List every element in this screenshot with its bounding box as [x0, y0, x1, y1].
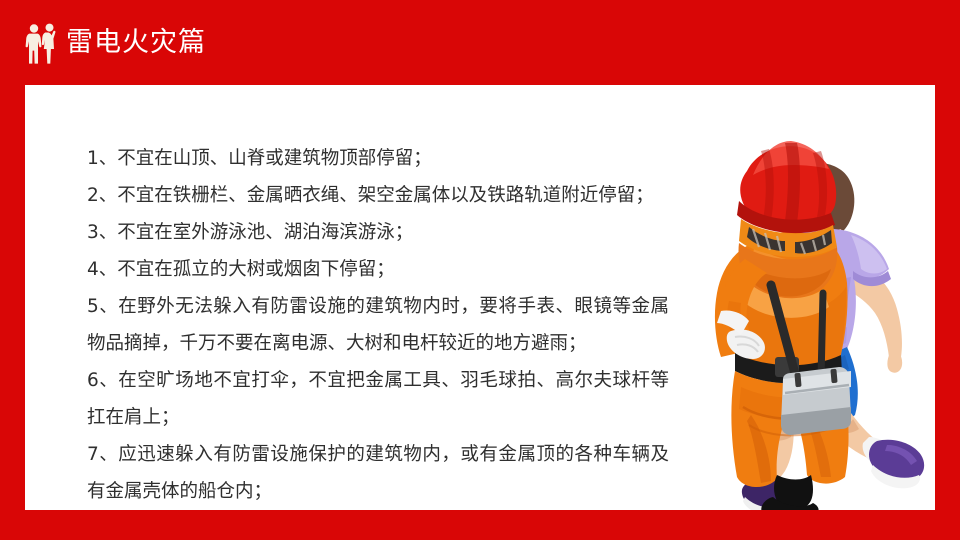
equipment-case [781, 367, 851, 435]
firefighter-rescuing-civilian-illustration [625, 125, 935, 510]
content-panel: 1、不宜在山顶、山脊或建筑物顶部停留； 2、不宜在铁栅栏、金属晒衣绳、架空金属体… [25, 85, 935, 510]
list-item: 1、不宜在山顶、山脊或建筑物顶部停留； [87, 140, 669, 177]
fire-helmet [737, 141, 836, 233]
slide-header: 雷电火灾篇 [0, 0, 960, 85]
list-item: 4、不宜在孤立的大树或烟囱下停留； [87, 251, 669, 288]
list-item: 3、不宜在室外游泳池、湖泊海滨游泳； [87, 214, 669, 251]
list-item: 6、在空旷场地不宜打伞，不宜把金属工具、羽毛球拍、高尔夫球杆等扛在肩上； [87, 362, 669, 436]
list-item: 2、不宜在铁栅栏、金属晒衣绳、架空金属体以及铁路轨道附近停留； [87, 177, 669, 214]
list-item: 5、在野外无法躲入有防雷设施的建筑物内时，要将手表、眼镜等金属物品摘掉，千万不要… [87, 288, 669, 362]
safety-tips-list: 1、不宜在山顶、山脊或建筑物顶部停留； 2、不宜在铁栅栏、金属晒衣绳、架空金属体… [87, 140, 669, 510]
slide-root: 雷电火灾篇 1、不宜在山顶、山脊或建筑物顶部停留； 2、不宜在铁栅栏、金属晒衣绳… [0, 0, 960, 540]
list-item: 7、应迅速躲入有防雷设施保护的建筑物内，或有金属顶的各种车辆及有金属壳体的船仓内… [87, 436, 669, 510]
two-people-icon [24, 22, 60, 64]
page-title: 雷电火灾篇 [66, 29, 206, 56]
